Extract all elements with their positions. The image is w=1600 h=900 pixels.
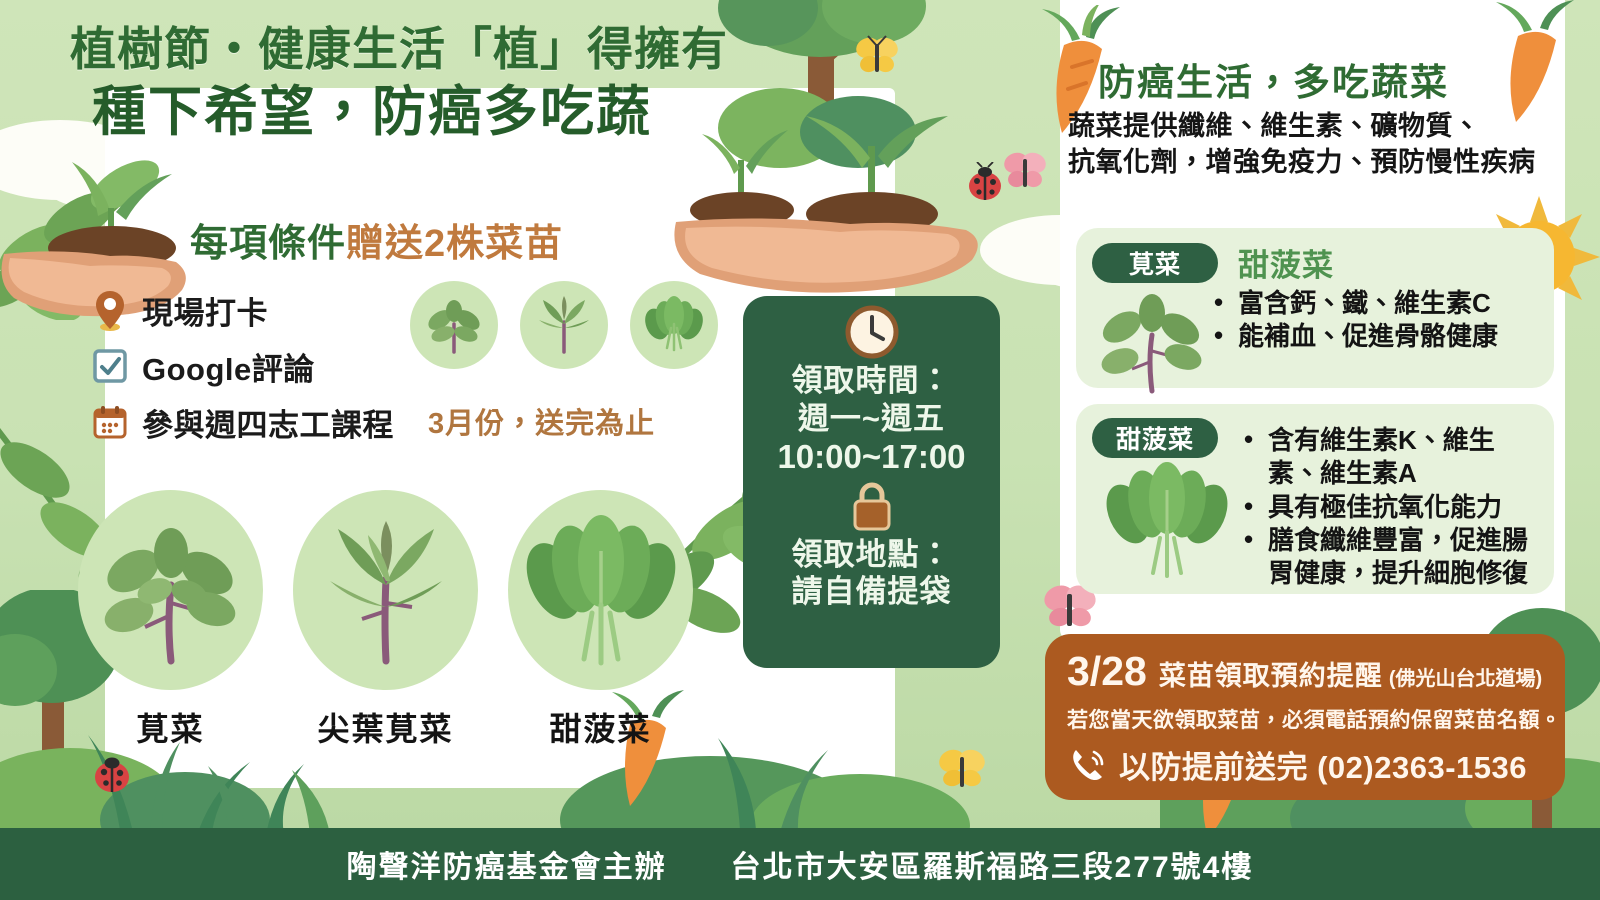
pickup-place-value: 請自備提袋 [792, 573, 952, 611]
location-pin-icon [88, 288, 132, 332]
reservation-date: 3/28 [1067, 648, 1147, 695]
gallery-item: 莧菜 [78, 490, 263, 750]
shopping-bag-icon [847, 482, 897, 534]
benefit-item: 能補血、促進骨骼健康 [1212, 320, 1498, 353]
pickup-time-hours: 10:00~17:00 [777, 438, 965, 476]
gallery-image [508, 490, 693, 690]
condition-row-volunteer-class[interactable]: 參與週四志工課程 [88, 394, 394, 450]
gallery-label: 莧菜 [78, 704, 263, 750]
vegetable-benefit-list: 富含鈣、鐵、維生素C 能補血、促進骨骼健康 [1212, 287, 1498, 395]
amaranth-plant-icon [1098, 287, 1206, 395]
vegetable-badge: 莧菜 [1092, 243, 1218, 283]
seedling-chip [410, 281, 498, 369]
benefit-item: 含有維生素K、維生素、維生素A [1242, 424, 1540, 491]
footer-address: 台北市大安區羅斯福路三段277號4樓 [731, 842, 1254, 886]
offer-title: 每項條件贈送2株菜苗 [190, 212, 563, 267]
ladybug-icon [88, 752, 136, 796]
headline-line-2: 種下希望，防癌多吃蔬 [92, 80, 728, 145]
phone-icon [1067, 745, 1107, 785]
sweet-spinach-plant-icon [526, 513, 676, 668]
pointed-leaf-amaranth-plant-icon [533, 294, 595, 356]
right-subtitle-line-2: 抗氧化劑，增強免疫力、預防慢性疾病 [1068, 144, 1536, 180]
vegetable-benefit-list: 含有維生素K、維生素、維生素A 具有極佳抗氧化能力 膳食纖維豐富，促進腸胃健康，… [1242, 424, 1540, 590]
footer-bar: 陶聲洋防癌基金會主辦 台北市大安區羅斯福路三段277號4樓 [0, 828, 1600, 900]
gallery-image [78, 490, 263, 690]
condition-label: Google評論 [142, 344, 315, 389]
condition-row-google-review[interactable]: Google評論 [88, 338, 394, 394]
carrot-icon [1480, 0, 1590, 125]
vegetable-heading: 甜菠菜 [1238, 240, 1334, 285]
footer-organizer: 陶聲洋防癌基金會主辦 [347, 842, 667, 886]
benefit-item: 具有極佳抗氧化能力 [1242, 491, 1540, 524]
clock-icon [844, 304, 900, 360]
seedling-chip-row [410, 281, 718, 369]
reservation-venue: (佛光山台北道場) [1389, 662, 1542, 691]
grass-icon [200, 760, 460, 835]
poster-headline: 植樹節・健康生活「植」得擁有 種下希望，防癌多吃蔬 [70, 22, 728, 145]
offer-title-orange: 贈送2株菜苗 [346, 223, 563, 265]
pickup-time-days: 週一~週五 [798, 400, 945, 438]
reservation-title: 菜苗領取預約提醒 [1159, 654, 1383, 693]
spinach-plant-icon [1106, 462, 1228, 580]
amaranth-plant-icon [101, 515, 241, 665]
gallery-item: 甜菠菜 [508, 490, 693, 750]
gallery-label: 甜菠菜 [508, 704, 693, 750]
butterfly-icon [852, 34, 902, 80]
card-body: 甜菠菜 含有維生素K、維生素、維生素A 具有極佳抗氧化能力 膳食纖維豐富，促進腸… [1092, 418, 1540, 590]
pickup-time-label: 領取時間： [792, 362, 952, 400]
reservation-notice-box: 3/28 菜苗領取預約提醒 (佛光山台北道場) 若您當天欲領取菜苗，必須電話預約… [1045, 634, 1565, 800]
checkbox-icon [88, 344, 132, 388]
reservation-note: 若您當天欲領取菜苗，必須電話預約保留菜苗名額。 [1067, 704, 1545, 734]
sweet-spinach-plant-icon [643, 294, 705, 356]
right-subtitle-line-1: 蔬菜提供纖維、維生素、礦物質、 [1068, 108, 1536, 144]
condition-label: 參與週四志工課程 [142, 400, 394, 445]
vegetable-info-card-1: 莧菜 甜菠菜 富含鈣、鐵、維生素C 能補血、促進骨骼健康 [1076, 228, 1554, 388]
vegetable-badge: 甜菠菜 [1092, 418, 1218, 458]
card-header: 莧菜 甜菠菜 [1092, 240, 1540, 285]
right-panel-title: 防癌生活，多吃蔬菜 [1098, 52, 1449, 106]
limit-note: 3月份，送完為止 [428, 400, 655, 442]
butterfly-icon [935, 745, 989, 795]
amaranth-plant-icon [423, 294, 485, 356]
seedling-chip [520, 281, 608, 369]
seedling-chip [630, 281, 718, 369]
calendar-icon [88, 400, 132, 444]
gallery-image [293, 490, 478, 690]
condition-row-checkin[interactable]: 現場打卡 [88, 282, 394, 338]
reservation-headline: 3/28 菜苗領取預約提醒 (佛光山台北道場) [1067, 648, 1545, 695]
condition-label: 現場打卡 [142, 288, 268, 333]
reservation-phone-row[interactable]: 以防提前送完 (02)2363-1536 [1067, 742, 1545, 787]
vegetable-illustration [1092, 287, 1212, 395]
pickup-info-card: 領取時間： 週一~週五 10:00~17:00 領取地點： 請自備提袋 [743, 296, 1000, 668]
pointed-leaf-amaranth-plant-icon [316, 515, 456, 665]
benefit-item: 富含鈣、鐵、維生素C [1212, 287, 1498, 320]
pickup-place-label: 領取地點： [792, 536, 952, 574]
conditions-list: 現場打卡 Google評論 參與週四志工課程 [88, 282, 394, 450]
benefit-item: 膳食纖維豐富，促進腸胃健康，提升細胞修復 [1242, 524, 1540, 591]
gallery-label: 尖葉莧菜 [293, 704, 478, 750]
right-panel-subtitle: 蔬菜提供纖維、維生素、礦物質、 抗氧化劑，增強免疫力、預防慢性疾病 [1068, 108, 1536, 181]
vegetable-illustration [1092, 462, 1242, 580]
gallery-item: 尖葉莧菜 [293, 490, 478, 750]
vegetable-info-card-2: 甜菠菜 含有維生素K、維生素、維生素A 具有極佳抗氧化能力 膳食纖維豐富，促進腸… [1076, 404, 1554, 594]
vegetable-gallery: 莧菜 尖葉莧菜 [78, 490, 693, 750]
headline-line-1: 植樹節・健康生活「植」得擁有 [70, 22, 728, 76]
card-body: 富含鈣、鐵、維生素C 能補血、促進骨骼健康 [1092, 287, 1540, 395]
ladybug-icon [962, 162, 1008, 204]
reservation-phone: 以防提前送完 (02)2363-1536 [1119, 742, 1527, 787]
offer-title-green: 每項條件 [190, 223, 346, 265]
